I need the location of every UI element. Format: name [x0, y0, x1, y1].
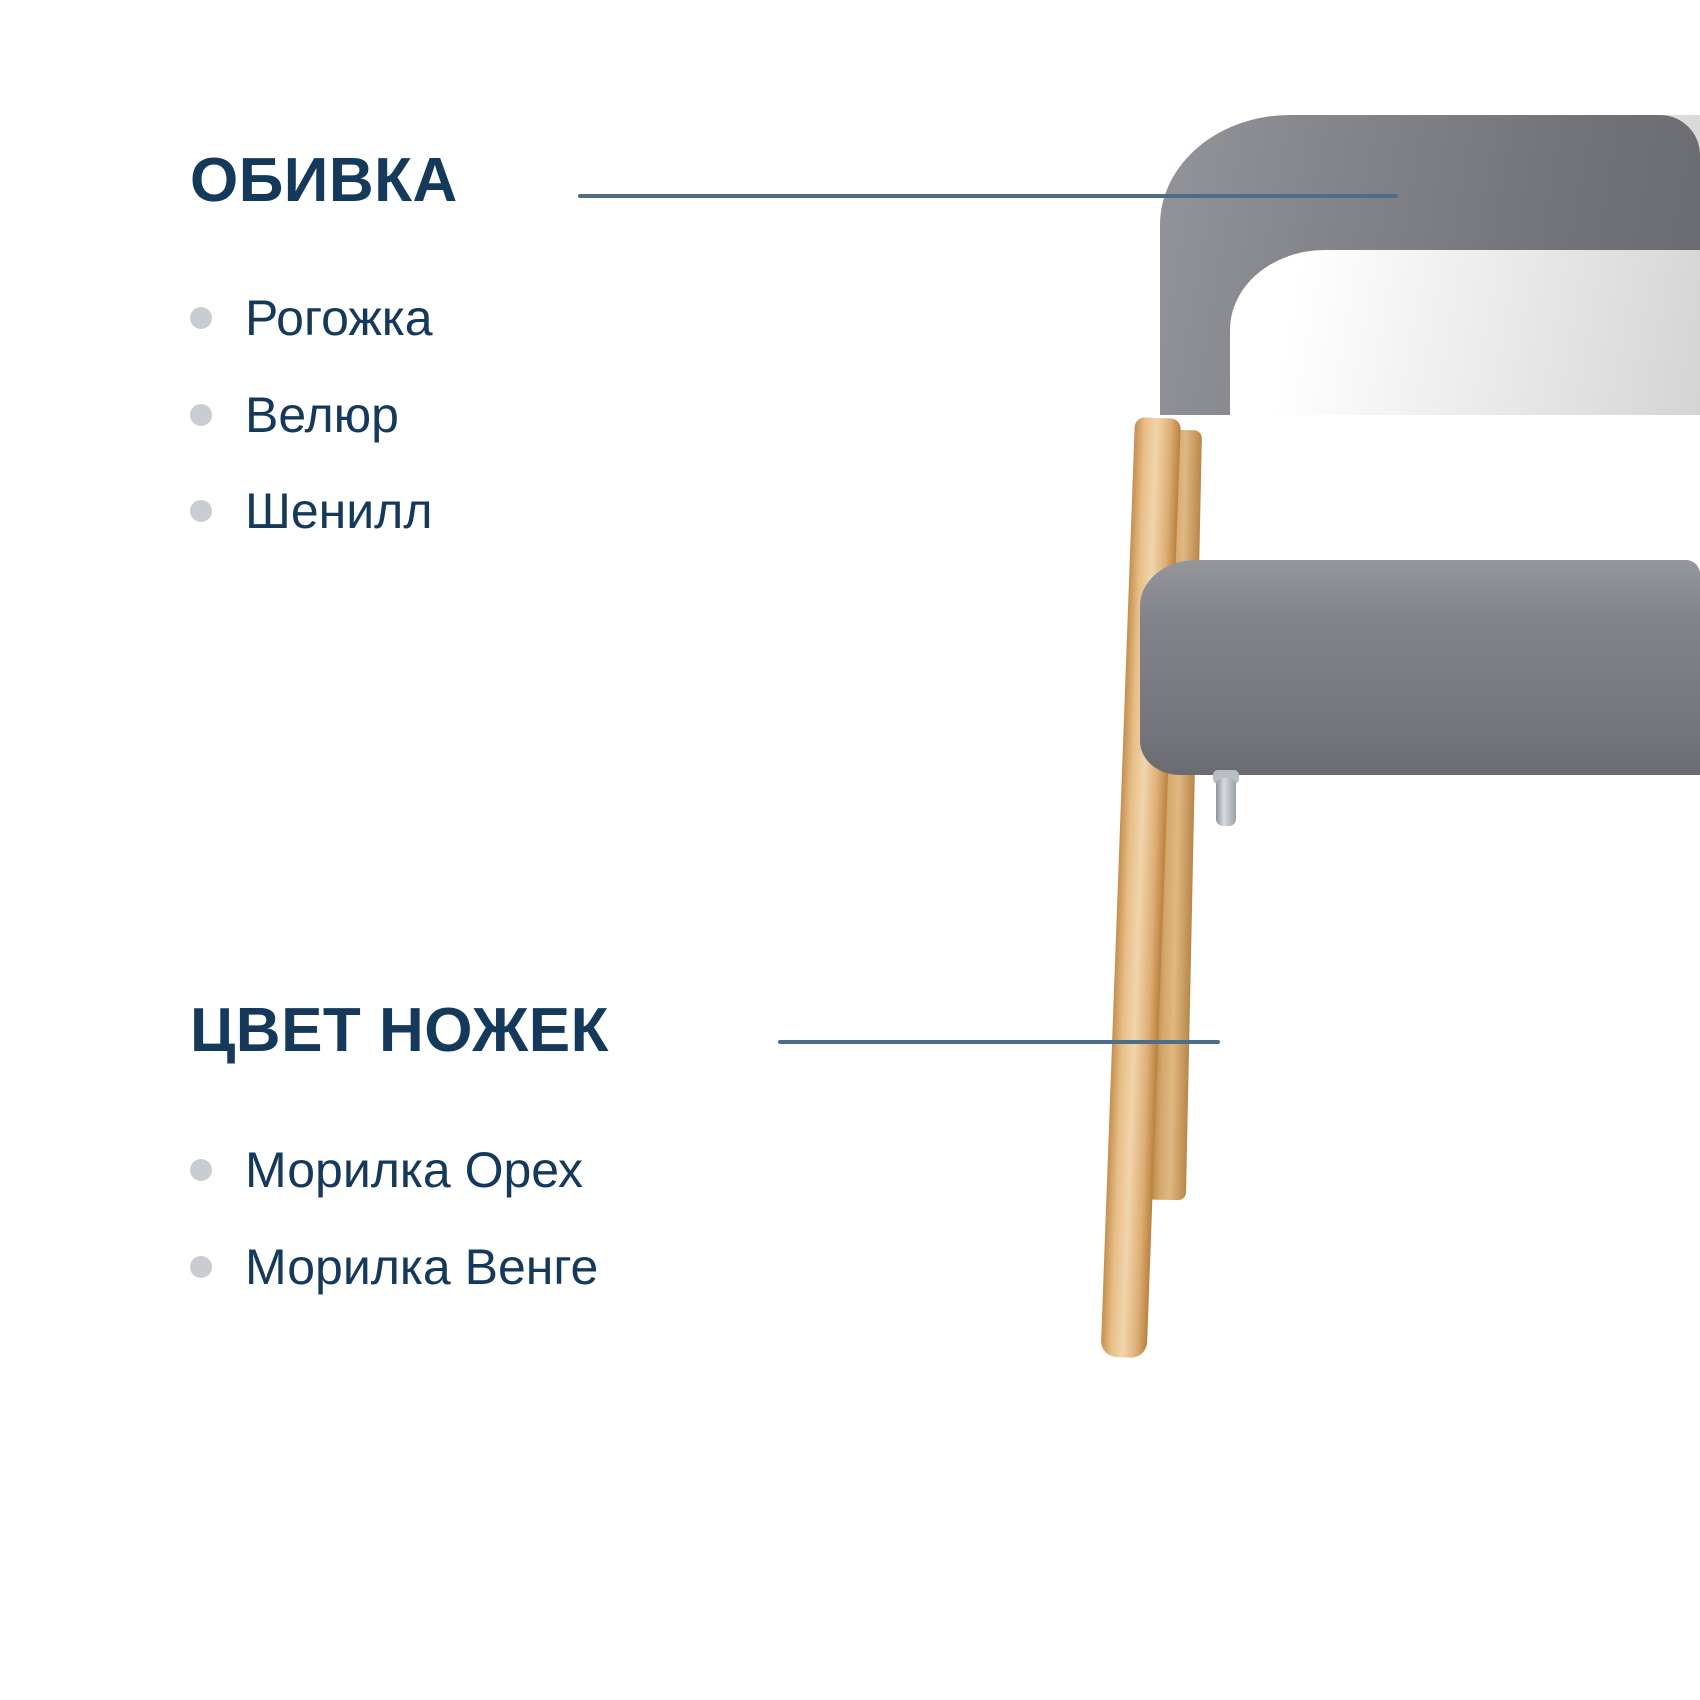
upholstery-option-label: Рогожка — [245, 292, 433, 345]
bullet-dot-icon — [190, 1159, 212, 1181]
section-leg-color: ЦВЕТ НОЖЕК Морилка Орех Морилка Венге — [190, 1000, 609, 1337]
list-item[interactable]: Шенилл — [190, 485, 458, 538]
list-item[interactable]: Рогожка — [190, 292, 458, 345]
chair-illustration — [1050, 0, 1700, 1700]
section-title-leg-color: ЦВЕТ НОЖЕК — [190, 1000, 609, 1062]
upholstery-option-label: Шенилл — [245, 485, 433, 538]
list-item[interactable]: Морилка Венге — [190, 1241, 609, 1294]
bullet-dot-icon — [190, 1256, 212, 1278]
list-item[interactable]: Велюр — [190, 389, 458, 442]
leg-color-option-label: Морилка Орех — [245, 1144, 583, 1197]
bullet-dot-icon — [190, 500, 212, 522]
leader-line-upholstery — [578, 194, 1398, 198]
upholstery-option-label: Велюр — [245, 389, 399, 442]
leg-color-options-list: Морилка Орех Морилка Венге — [190, 1144, 609, 1293]
chair-backrest-cutout — [1230, 250, 1700, 420]
bullet-dot-icon — [190, 404, 212, 426]
upholstery-options-list: Рогожка Велюр Шенилл — [190, 292, 458, 538]
leader-line-leg-color — [778, 1040, 1220, 1044]
infographic-page: ОБИВКА Рогожка Велюр Шенилл ЦВЕТ НОЖЕК М… — [0, 0, 1700, 1700]
section-title-upholstery: ОБИВКА — [190, 150, 458, 212]
chair-metal-fitting-icon — [1216, 778, 1236, 826]
section-upholstery: ОБИВКА Рогожка Велюр Шенилл — [190, 150, 458, 582]
bullet-dot-icon — [190, 307, 212, 329]
leg-color-option-label: Морилка Венге — [245, 1241, 598, 1294]
list-item[interactable]: Морилка Орех — [190, 1144, 609, 1197]
chair-seat — [1140, 560, 1700, 775]
